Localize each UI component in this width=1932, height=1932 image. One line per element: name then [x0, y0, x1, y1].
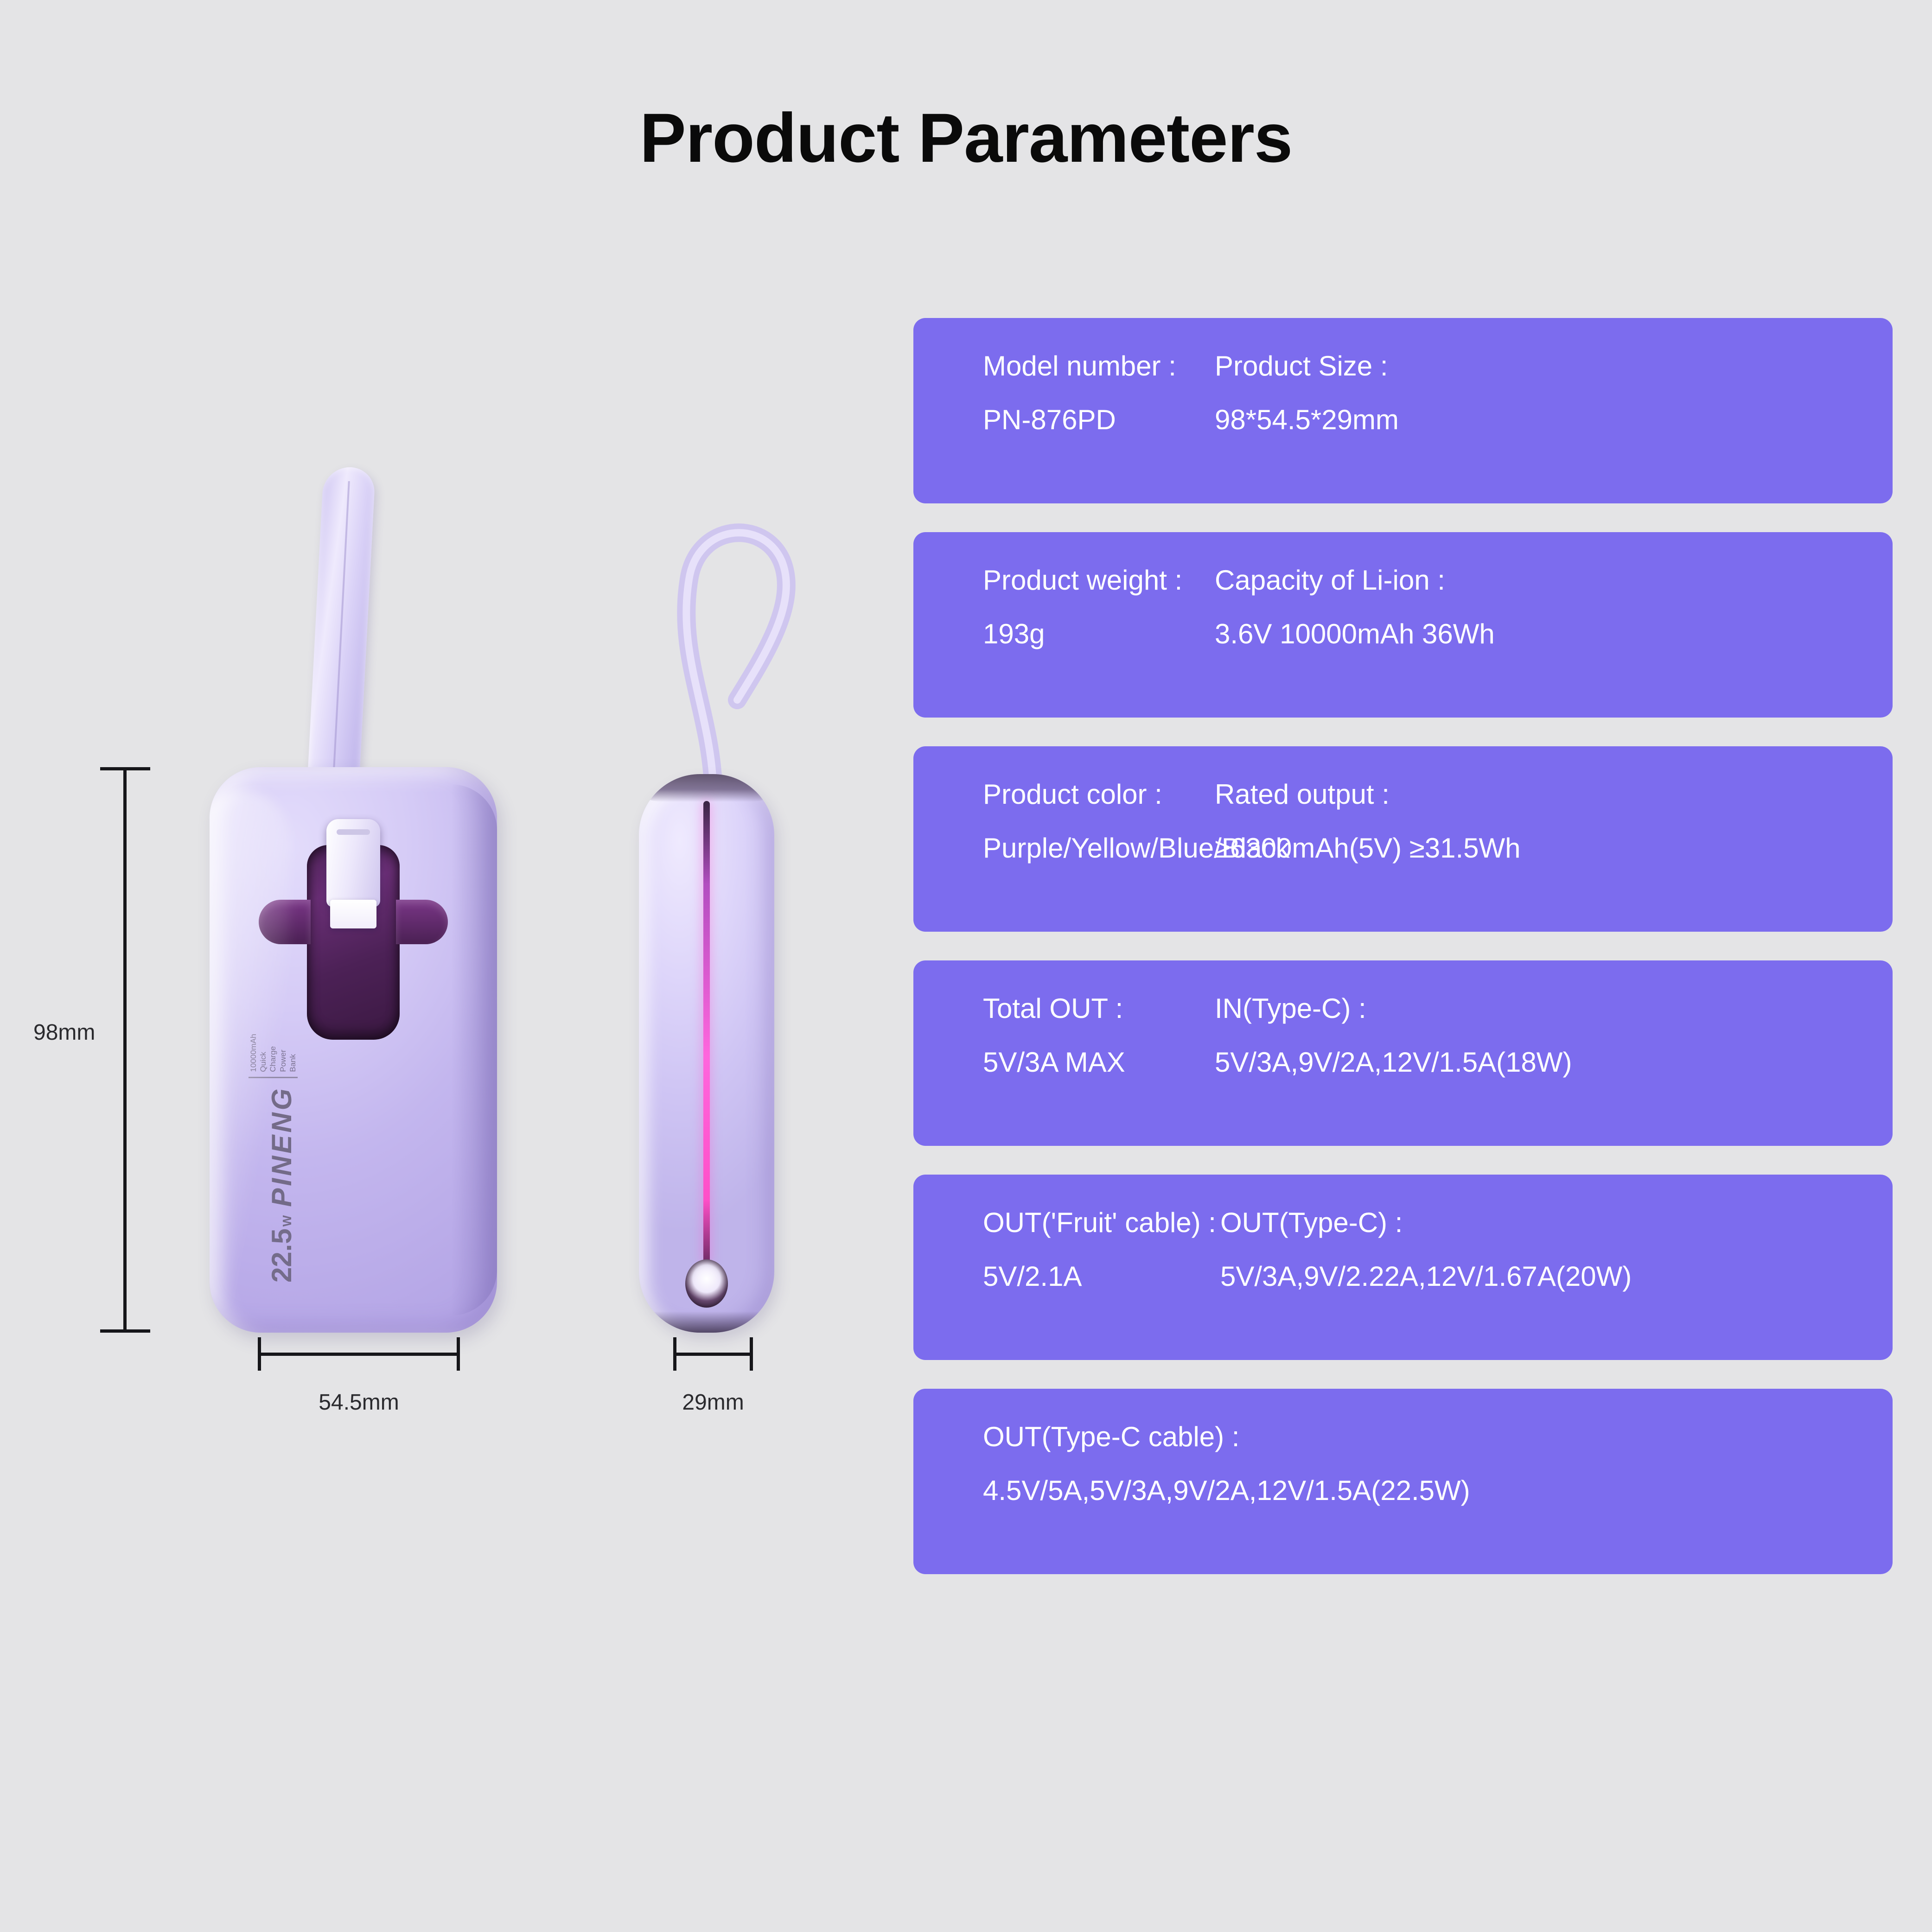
spec-field-capacity: Capacity of Li-ion : 3.6V 10000mAh 36Wh: [1215, 561, 1893, 654]
spec-value: 5V/3A,9V/2.22A,12V/1.67A(20W): [1220, 1257, 1893, 1296]
spec-card-list: Model number : PN-876PD Product Size : 9…: [913, 318, 1893, 1603]
spec-card-model: Model number : PN-876PD Product Size : 9…: [913, 318, 1893, 503]
type-c-cable-head: [326, 819, 380, 907]
spec-label: Capacity of Li-ion :: [1215, 561, 1893, 600]
depth-dimension-label: 29mm: [658, 1390, 768, 1415]
side-cable-loop: [649, 491, 807, 788]
wattage-value: 22.5: [266, 1228, 298, 1283]
width-dimension-cap-left: [258, 1337, 261, 1371]
spec-value: 193g: [983, 615, 1215, 654]
product-image-area: 22.5W PINENG 10000mAh Quick Charge Power…: [0, 0, 913, 1932]
height-dimension-cap-top: [100, 767, 150, 770]
spec-row: OUT(Type-C cable) : 4.5V/5A,5V/3A,9V/2A,…: [983, 1417, 1893, 1510]
width-dimension-label: 54.5mm: [258, 1390, 460, 1415]
spec-label: Model number :: [983, 347, 1215, 386]
spec-row: Product weight : 193g Capacity of Li-ion…: [983, 561, 1893, 654]
spec-field-out-typec: OUT(Type-C) : 5V/3A,9V/2.22A,12V/1.67A(2…: [1220, 1203, 1893, 1296]
spec-field-out-fruit-cable: OUT('Fruit' cable) : 5V/2.1A: [983, 1203, 1220, 1296]
spec-label: OUT(Type-C cable) :: [983, 1417, 1893, 1456]
spec-row: Total OUT : 5V/3A MAX IN(Type-C) : 5V/3A…: [983, 989, 1893, 1082]
spec-card-total-out: Total OUT : 5V/3A MAX IN(Type-C) : 5V/3A…: [913, 960, 1893, 1146]
width-dimension-line: [258, 1353, 460, 1356]
spec-value: 5V/2.1A: [983, 1257, 1220, 1296]
side-bottom-trim: [650, 1311, 763, 1333]
spec-card-out-fruit: OUT('Fruit' cable) : 5V/2.1A OUT(Type-C)…: [913, 1175, 1893, 1360]
brand-print-group: 22.5W PINENG 10000mAh Quick Charge Power…: [210, 1116, 298, 1283]
spec-label: Product weight :: [983, 561, 1215, 600]
depth-dimension-cap-right: [750, 1337, 753, 1371]
spec-field-input-typec: IN(Type-C) : 5V/3A,9V/2A,12V/1.5A(18W): [1215, 989, 1893, 1082]
wattage-unit: W: [280, 1215, 294, 1227]
led-light-strip: [703, 801, 710, 1265]
spec-value: ≥6300mAh(5V) ≥31.5Wh: [1215, 829, 1893, 868]
cradle-wing-left: [259, 900, 311, 944]
spec-field-total-out: Total OUT : 5V/3A MAX: [983, 989, 1215, 1082]
spec-card-weight: Product weight : 193g Capacity of Li-ion…: [913, 532, 1893, 718]
spec-label: Total OUT :: [983, 989, 1215, 1028]
spec-label: IN(Type-C) :: [1215, 989, 1893, 1028]
spec-label: Product Size :: [1215, 347, 1893, 386]
front-shell: 22.5W PINENG 10000mAh Quick Charge Power…: [210, 767, 497, 1333]
wattage-print: 22.5W: [266, 1215, 298, 1283]
cradle-wing-right: [396, 900, 448, 944]
front-cable-strap: [315, 467, 367, 792]
spec-card-color: Product color : Purple/Yellow/Blue/Black…: [913, 746, 1893, 932]
spec-field-out-typec-cable: OUT(Type-C cable) : 4.5V/5A,5V/3A,9V/2A,…: [983, 1417, 1893, 1510]
spec-label: OUT('Fruit' cable) :: [983, 1203, 1220, 1242]
front-edge-shading: [451, 784, 497, 1316]
sub-category: Power Bank: [279, 1049, 297, 1072]
spec-row: Model number : PN-876PD Product Size : 9…: [983, 347, 1893, 439]
brand-name-print: PINENG: [266, 1087, 298, 1207]
spec-field-product-color: Product color : Purple/Yellow/Blue/Black: [983, 775, 1215, 868]
power-bank-side-view: [639, 774, 774, 1333]
height-dimension-line: [123, 767, 127, 1333]
spec-row: OUT('Fruit' cable) : 5V/2.1A OUT(Type-C)…: [983, 1203, 1893, 1296]
height-dimension-cap-bottom: [100, 1329, 150, 1333]
spec-value: 5V/3A,9V/2A,12V/1.5A(18W): [1215, 1043, 1893, 1082]
spec-value: 3.6V 10000mAh 36Wh: [1215, 615, 1893, 654]
spec-field-product-size: Product Size : 98*54.5*29mm: [1215, 347, 1893, 439]
spec-value: Purple/Yellow/Blue/Black: [983, 829, 1215, 868]
power-bank-front-view: 22.5W PINENG 10000mAh Quick Charge Power…: [210, 767, 497, 1333]
side-loop-svg: [649, 491, 807, 788]
brand-sub-print: 10000mAh Quick Charge Power Bank: [249, 1034, 298, 1078]
spec-label: Rated output :: [1215, 775, 1893, 814]
depth-dimension-line: [673, 1353, 753, 1356]
sub-capacity: 10000mAh: [249, 1034, 258, 1072]
height-dimension-label: 98mm: [33, 1020, 95, 1045]
spec-value: 98*54.5*29mm: [1215, 400, 1893, 439]
spec-field-model-number: Model number : PN-876PD: [983, 347, 1215, 439]
width-dimension-cap-right: [457, 1337, 460, 1371]
spec-value: PN-876PD: [983, 400, 1215, 439]
side-shell: [639, 774, 774, 1333]
spec-value: 4.5V/5A,5V/3A,9V/2A,12V/1.5A(22.5W): [983, 1471, 1893, 1510]
spec-field-rated-output: Rated output : ≥6300mAh(5V) ≥31.5Wh: [1215, 775, 1893, 868]
spec-row: Product color : Purple/Yellow/Blue/Black…: [983, 775, 1893, 868]
spec-label: Product color :: [983, 775, 1215, 814]
spec-label: OUT(Type-C) :: [1220, 1203, 1893, 1242]
side-port-opening: [685, 1259, 728, 1308]
depth-dimension-cap-left: [673, 1337, 676, 1371]
spec-card-out-typec-cable: OUT(Type-C cable) : 4.5V/5A,5V/3A,9V/2A,…: [913, 1389, 1893, 1574]
sub-charge: Quick Charge: [259, 1046, 277, 1072]
spec-value: 5V/3A MAX: [983, 1043, 1215, 1082]
side-top-trim: [647, 774, 766, 802]
spec-field-product-weight: Product weight : 193g: [983, 561, 1215, 654]
